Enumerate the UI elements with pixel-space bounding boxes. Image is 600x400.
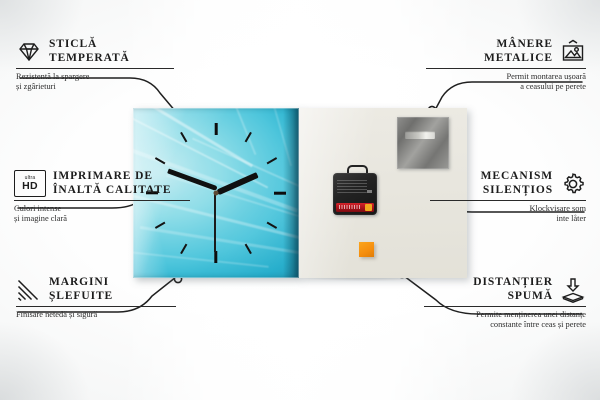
callout-rule xyxy=(16,306,176,307)
battery-label-print xyxy=(339,205,361,209)
callout-metal-hangers: MÂNERE METALICE Permit montarea ușoară a… xyxy=(426,38,586,92)
callout-rule xyxy=(14,200,190,201)
callout-subtitle: Rezistentă la spargere și zgârieturi xyxy=(16,72,174,92)
framed-picture-hanger-icon xyxy=(560,39,586,65)
callout-subtitle: Culori intense și imagine clară xyxy=(14,204,190,224)
mechanism-body xyxy=(333,173,377,215)
callout-title: MARGINI ȘLEFUITE xyxy=(49,276,113,303)
bevel-stripes-icon xyxy=(16,277,42,303)
callout-tempered-glass: STICLĂ TEMPERATĂ Rezistentă la spargere … xyxy=(16,38,174,92)
callout-rule xyxy=(16,68,174,69)
ultra-hd-badge-icon: ultra HD xyxy=(14,170,46,197)
callout-subtitle: Finisare netedă și sigură xyxy=(16,310,176,320)
callout-subtitle: Klockvisare som inte låter xyxy=(430,204,586,224)
arrow-down-onto-pad-icon xyxy=(560,277,586,303)
callout-header: MARGINI ȘLEFUITE xyxy=(16,276,176,303)
callout-rule xyxy=(426,68,586,69)
callout-header: MÂNERE METALICE xyxy=(426,38,586,65)
callout-header: MECANISM SILENȚIOS xyxy=(430,170,586,197)
mechanism-marking xyxy=(367,190,372,193)
callout-header: ultra HD IMPRIMARE DE ÎNALTĂ CALITATE xyxy=(14,170,190,197)
clock-mechanism xyxy=(333,165,377,215)
hanger-slot xyxy=(405,131,435,139)
callout-title: STICLĂ TEMPERATĂ xyxy=(49,38,130,65)
metal-hanger-plate xyxy=(397,117,449,169)
callout-title: MECANISM SILENȚIOS xyxy=(481,170,553,197)
callout-subtitle: Permit montarea ușoară a ceasului pe per… xyxy=(426,72,586,92)
callout-title: IMPRIMARE DE ÎNALTĂ CALITATE xyxy=(53,170,171,197)
callout-polished-edges: MARGINI ȘLEFUITE Finisare netedă și sigu… xyxy=(16,276,176,320)
infographic-canvas: STICLĂ TEMPERATĂ Rezistentă la spargere … xyxy=(0,0,600,400)
mechanism-label-print xyxy=(337,179,367,193)
battery-positive-terminal xyxy=(365,204,372,211)
foam-spacer-pad xyxy=(359,242,374,257)
callout-high-quality-print: ultra HD IMPRIMARE DE ÎNALTĂ CALITATE Cu… xyxy=(14,170,190,224)
gear-icon xyxy=(560,171,586,197)
mechanism-battery xyxy=(336,203,374,212)
callout-header: DISTANȚIER SPUMĂ xyxy=(424,276,586,303)
diamond-icon xyxy=(16,39,42,65)
callout-header: STICLĂ TEMPERATĂ xyxy=(16,38,174,65)
callout-title: MÂNERE METALICE xyxy=(484,38,553,65)
callout-rule xyxy=(424,306,586,307)
callout-rule xyxy=(430,200,586,201)
ultra-hd-badge-hd-text: HD xyxy=(22,181,38,192)
callout-silent-mechanism: MECANISM SILENȚIOS Klockvisare som inte … xyxy=(430,170,586,224)
callout-title: DISTANȚIER SPUMĂ xyxy=(473,276,553,303)
callout-foam-spacer: DISTANȚIER SPUMĂ Permite menținerea unei… xyxy=(424,276,586,330)
callout-subtitle: Permite menținerea unei distanțe constan… xyxy=(424,310,586,330)
